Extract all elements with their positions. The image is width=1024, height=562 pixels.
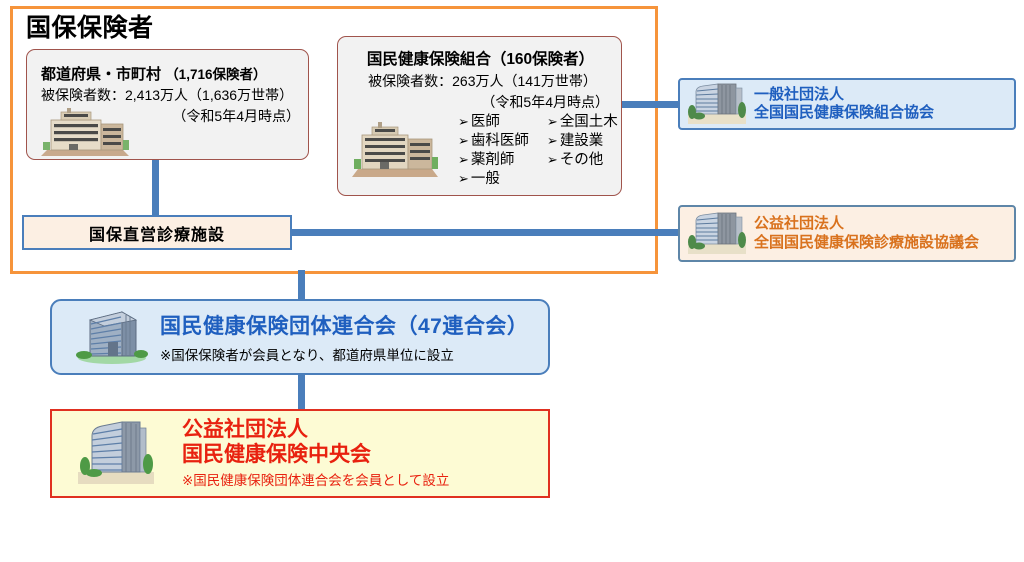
connector-municipal-to-clinic [152,159,159,217]
list-item-label: 医師 [471,114,500,130]
box-kokuho-federation: 国民健康保険団体連合会（47連合会） ※国保保険者が会員となり、都道府県単位に設… [50,299,550,375]
municipal-insured-count: 被保険者数：2,413万人（1,636万世帯） [41,85,306,105]
box-kokuho-central-association: 公益社団法人 国民健康保険中央会 ※国民健康保険団体連合会を会員として設立 [50,409,550,498]
rengokai-title: 国民健康保険団体連合会（47連合会） [160,310,528,340]
kenpo-title: 国民健康保険組合（160保険者） [338,47,623,69]
list-item-label: 建設業 [560,133,604,149]
municipal-title-row: 都道府県・市町村 （1,716保険者） [41,63,306,84]
high-rise-icon [74,306,150,369]
connector-rengokai-to-chuokai [298,373,305,411]
assoc-clinic-line1: 公益社団法人 [754,215,979,233]
chuokai-note: ※国民健康保険団体連合会を会員として設立 [182,469,449,489]
diagram-canvas: 国保保険者 都道府県・市町村 （1,716保険者） 被保険者数：2,413万人（… [0,0,1024,562]
bullet-arrow-icon: ➢ [458,152,469,167]
office-building-icon [352,117,440,184]
connector-frame-to-rengokai [298,270,305,302]
municipal-name: 都道府県・市町村 [41,66,161,83]
list-item-label: 一般 [471,171,500,187]
chuokai-text: 公益社団法人 国民健康保険中央会 ※国民健康保険団体連合会を会員として設立 [182,418,449,490]
kenpo-list-column-left: ➢医師 ➢歯科医師 ➢薬剤師 ➢一般 [458,113,529,189]
list-item-label: 全国土木 [560,114,618,130]
bullet-arrow-icon: ➢ [458,171,469,186]
bullet-arrow-icon: ➢ [547,133,558,148]
bullet-arrow-icon: ➢ [547,152,558,167]
list-item-label: その他 [560,152,604,168]
kenpo-member-list: ➢医師 ➢歯科医師 ➢薬剤師 ➢一般 ➢全国土木 ➢建設業 ➢その他 [458,113,618,189]
chuokai-line2: 国民健康保険中央会 [182,443,449,468]
kenpo-list-column-right: ➢全国土木 ➢建設業 ➢その他 [547,113,618,189]
box-national-clinic-council: 公益社団法人 全国国民健康保険診療施設協議会 [678,205,1016,262]
kenpo-asof-date: （令和5年4月時点） [338,92,623,112]
list-item-label: 歯科医師 [471,133,529,149]
assoc-kenpo-line1: 一般社団法人 [754,86,934,104]
bullet-arrow-icon: ➢ [458,133,469,148]
list-item: ➢医師 [458,113,529,131]
list-item: ➢建設業 [547,132,618,150]
box-prefecture-municipality: 都道府県・市町村 （1,716保険者） 被保険者数：2,413万人（1,636万… [26,49,309,160]
frame-title: 国保保険者 [26,8,154,44]
high-rise-curved-icon [78,418,154,489]
assoc-clinic-line2: 全国国民健康保険診療施設協議会 [754,234,979,252]
assoc-kenpo-line2: 全国国民健康保険組合協会 [754,104,934,122]
kenpo-insured-count: 被保険者数：263万人（141万世帯） [338,71,623,91]
chuokai-line1: 公益社団法人 [182,418,449,443]
government-building-icon [39,106,131,161]
box-kokuho-direct-clinic: 国保直営診療施設 [22,215,292,250]
clinic-label: 国保直営診療施設 [89,221,225,245]
list-item: ➢全国土木 [547,113,618,131]
list-item: ➢薬剤師 [458,151,529,169]
rengokai-note: ※国保保険者が会員となり、都道府県単位に設立 [160,344,528,364]
curved-tower-icon [688,80,746,129]
kenpo-header-block: 国民健康保険組合（160保険者） 被保険者数：263万人（141万世帯） （令和… [338,47,623,112]
bullet-arrow-icon: ➢ [547,114,558,129]
list-item: ➢その他 [547,151,618,169]
rengokai-text: 国民健康保険団体連合会（47連合会） ※国保保険者が会員となり、都道府県単位に設… [160,310,528,364]
list-item: ➢一般 [458,170,529,188]
connector-clinic-to-assoc [291,229,681,236]
connector-kenpo-to-assoc [620,101,682,108]
municipal-insurer-count: （1,716保険者） [165,67,266,82]
list-item-label: 薬剤師 [471,152,515,168]
bullet-arrow-icon: ➢ [458,114,469,129]
list-item: ➢歯科医師 [458,132,529,150]
box-kokuho-kenpo-union: 国民健康保険組合（160保険者） 被保険者数：263万人（141万世帯） （令和… [337,36,622,196]
assoc-clinic-text: 公益社団法人 全国国民健康保険診療施設協議会 [754,215,979,252]
assoc-kenpo-text: 一般社団法人 全国国民健康保険組合協会 [754,86,934,123]
box-national-kenpo-association: 一般社団法人 全国国民健康保険組合協会 [678,78,1016,130]
curved-tower-icon [688,208,746,259]
